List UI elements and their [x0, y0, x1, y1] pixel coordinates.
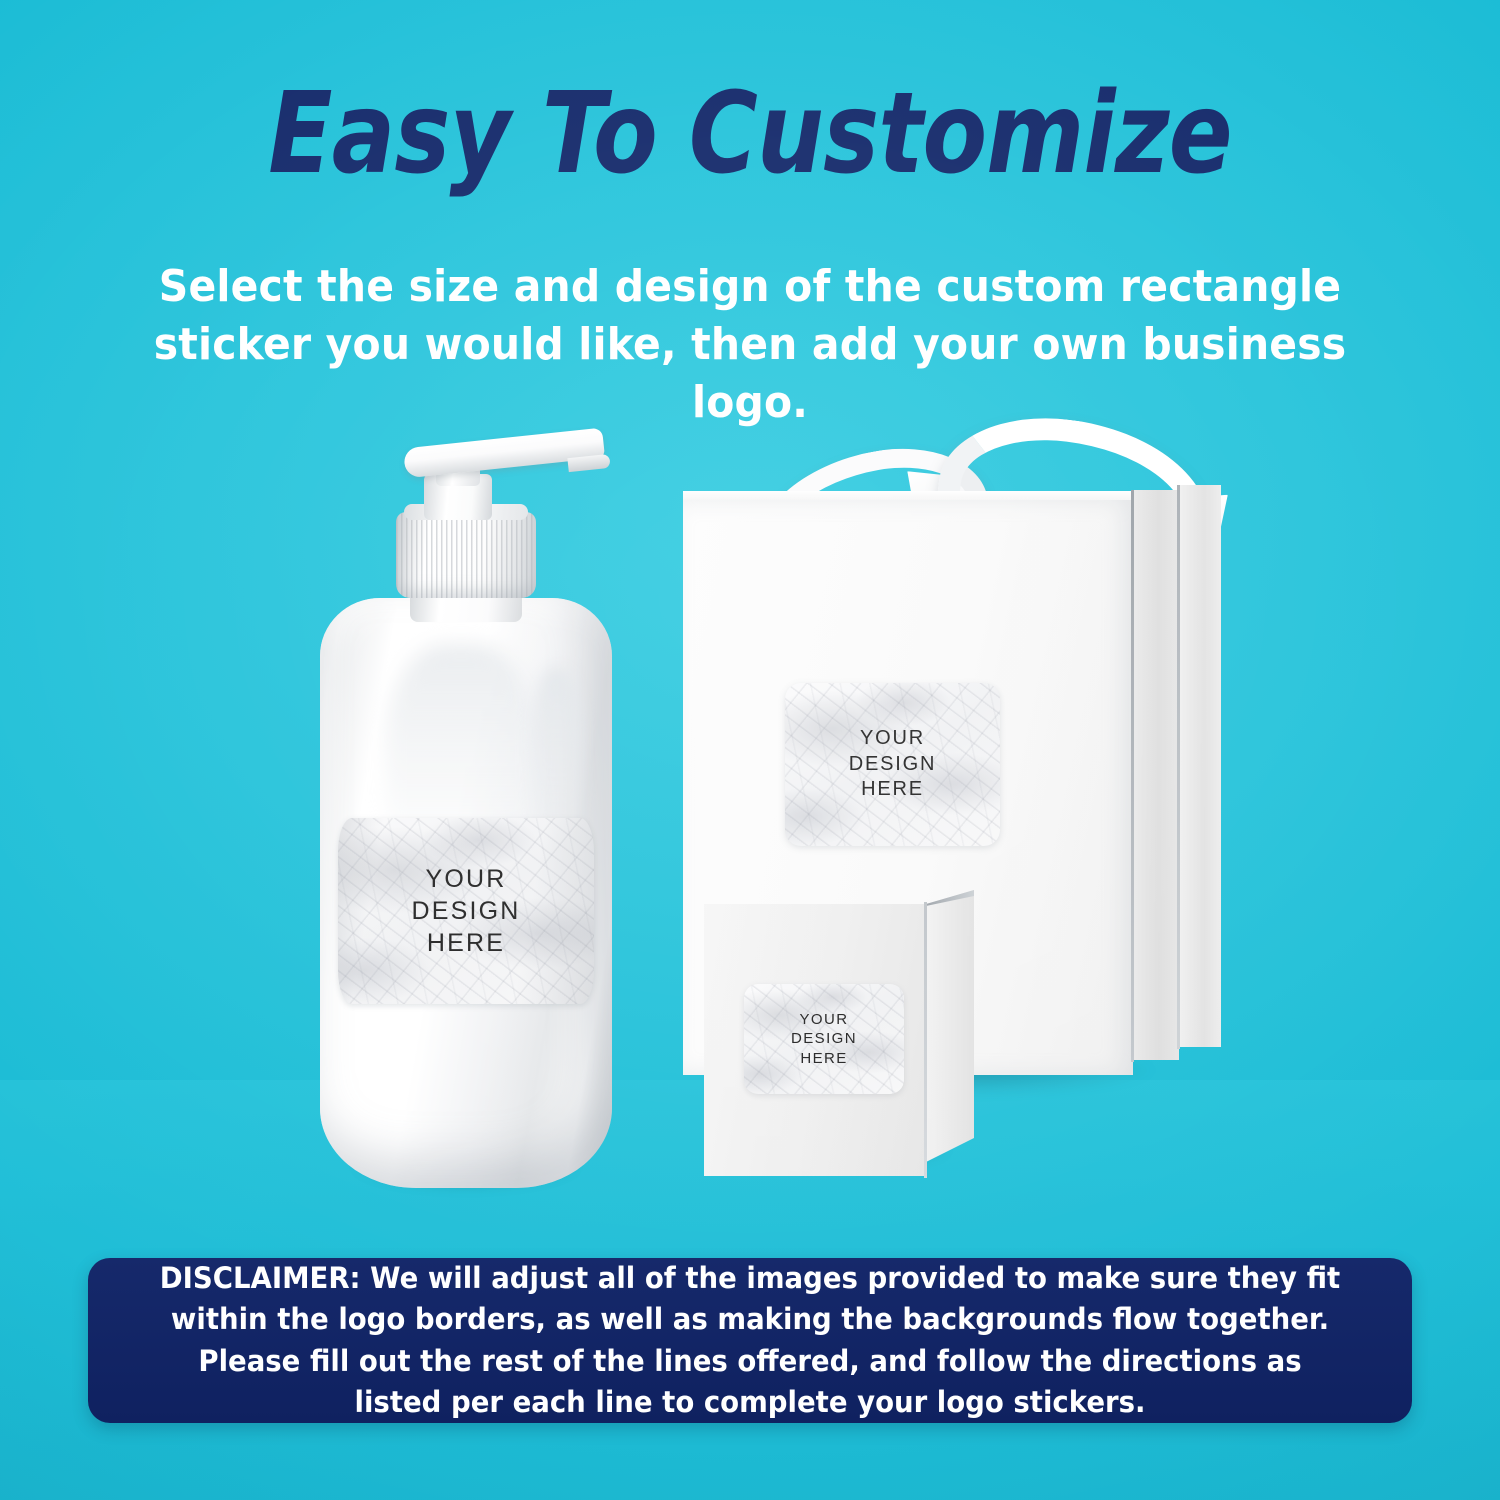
- gift-box-side-panel: [1133, 490, 1179, 1060]
- small-box-label-sticker[interactable]: YOUR DESIGN HERE: [744, 984, 904, 1094]
- small-box-corner-edge: [924, 902, 927, 1178]
- small-product-box: YOUR DESIGN HERE: [700, 890, 1000, 1190]
- gift-box-label-sticker[interactable]: YOUR DESIGN HERE: [785, 683, 1000, 846]
- sticker-line-1: YOUR: [425, 863, 506, 895]
- sticker-line-2: DESIGN: [411, 895, 520, 927]
- sticker-line-3: HERE: [800, 1049, 847, 1068]
- disclaimer-label: DISCLAIMER:: [160, 1261, 361, 1295]
- gift-box-seam: [1131, 490, 1134, 1062]
- pump-dispenser-bottle: YOUR DESIGN HERE: [300, 432, 630, 1222]
- sticker-line-3: HERE: [427, 927, 505, 959]
- gift-box-seam-back: [1177, 485, 1180, 1049]
- bottle-ribbed-collar: [396, 512, 536, 598]
- disclaimer-banner: DISCLAIMER: We will adjust all of the im…: [88, 1258, 1412, 1423]
- sticker-line-3: HERE: [861, 777, 924, 803]
- small-box-side-panel: [926, 890, 974, 1162]
- sticker-line-1: YOUR: [800, 1010, 849, 1029]
- sticker-line-1: YOUR: [860, 726, 925, 752]
- disclaimer-text: DISCLAIMER: We will adjust all of the im…: [121, 1258, 1379, 1423]
- page-title: Easy To Customize: [120, 78, 1380, 190]
- sticker-line-2: DESIGN: [849, 752, 936, 778]
- pump-nozzle-tip: [567, 454, 610, 472]
- bottle-label-sticker[interactable]: YOUR DESIGN HERE: [338, 818, 594, 1004]
- promo-graphic: Easy To Customize Select the size and de…: [0, 0, 1500, 1500]
- gift-box-side-panel-back: [1179, 485, 1221, 1047]
- sticker-line-2: DESIGN: [791, 1029, 857, 1048]
